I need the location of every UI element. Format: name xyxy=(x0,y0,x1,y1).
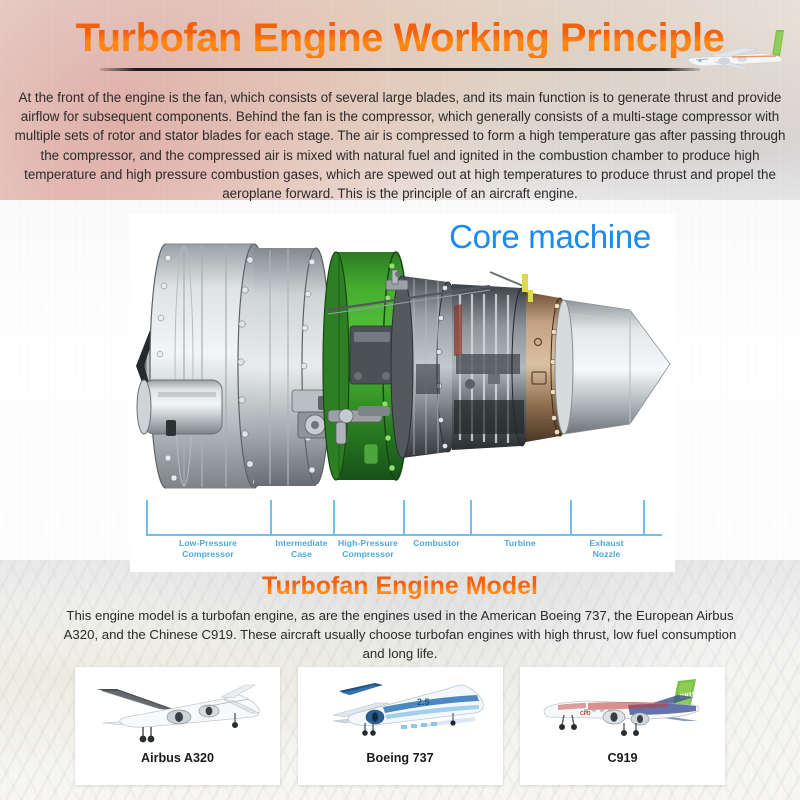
segment-label-turbine: Turbine xyxy=(470,538,570,549)
aircraft-card-list: Airbus A320 xyxy=(75,667,725,785)
segment-label-low-pressure-compressor: Low-Pressure Compressor xyxy=(146,538,270,560)
segment-label-high-pressure-compressor: High-Pressure Compressor xyxy=(333,538,403,560)
engine-diagram-panel: Core machine xyxy=(130,214,675,572)
segment-label-intermediate-case: Intermediate Case xyxy=(270,538,333,560)
svg-text:2.5: 2.5 xyxy=(417,697,430,707)
aircraft-card-label: Boeing 737 xyxy=(366,751,433,765)
segment-line1: Exhaust xyxy=(570,538,643,549)
segment-line2: Nozzle xyxy=(570,549,643,560)
aircraft-card-c919[interactable]: C919 xyxy=(520,667,725,785)
turbofan-engine-illustration xyxy=(130,214,675,514)
segment-line1: Intermediate xyxy=(270,538,333,549)
segment-line1: Combustor xyxy=(403,538,470,549)
page-title: Turbofan Engine Working Principle xyxy=(76,18,725,58)
ruler-tick-0 xyxy=(146,500,148,536)
ruler-tick-6 xyxy=(643,500,645,536)
section2-title: Turbofan Engine Model xyxy=(262,574,538,599)
c919-airplane-icon xyxy=(680,26,798,82)
ruler-tick-5 xyxy=(570,500,572,536)
ruler-tick-4 xyxy=(470,500,472,536)
svg-text:CPD: CPD xyxy=(580,711,591,717)
segment-label-exhaust-nozzle: Exhaust Nozzle xyxy=(570,538,643,560)
segment-line2: Compressor xyxy=(146,549,270,560)
section2-paragraph: This engine model is a turbofan engine, … xyxy=(60,606,740,663)
segment-line1: Turbine xyxy=(470,538,570,549)
ruler-tick-1 xyxy=(270,500,272,536)
aircraft-card-label: C919 xyxy=(607,751,637,765)
aircraft-card-label: Airbus A320 xyxy=(141,751,214,765)
ruler-tick-2 xyxy=(333,500,335,536)
segment-line2: Compressor xyxy=(333,549,403,560)
intro-paragraph: At the front of the engine is the fan, w… xyxy=(14,88,786,203)
aircraft-card-airbus-a320[interactable]: Airbus A320 xyxy=(75,667,280,785)
c919-photo: C919 xyxy=(528,669,718,753)
boeing-737-photo: 2.5 xyxy=(305,669,495,753)
segment-line1: High-Pressure xyxy=(333,538,403,549)
airbus-a320-photo xyxy=(83,669,273,753)
infographic-page: Turbofan Engine Working Principle At the… xyxy=(0,0,800,800)
ruler-tick-3 xyxy=(403,500,405,536)
engine-section-ruler: Low-Pressure Compressor Intermediate Cas… xyxy=(130,500,675,572)
segment-label-combustor: Combustor xyxy=(403,538,470,549)
segment-line2: Case xyxy=(270,549,333,560)
title-divider xyxy=(100,68,700,71)
aircraft-card-boeing-737[interactable]: 2.5 Boeing 737 xyxy=(298,667,503,785)
segment-line1: Low-Pressure xyxy=(146,538,270,549)
section2-header: Turbofan Engine Model xyxy=(0,574,800,599)
